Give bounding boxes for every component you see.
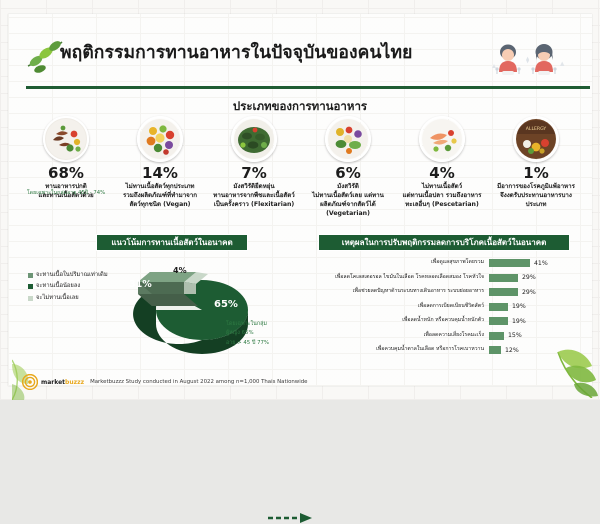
- food-type-label-line3: ผลิตภัณฑ์จากสัตว์ได้ (Vegetarian): [302, 201, 394, 219]
- brand-logo-main: market: [41, 379, 65, 386]
- pie-note: โดยเฉพาะในกลุ่ม ผู้หญิง 65% อายุ > 45 ปี…: [226, 320, 310, 348]
- pie-note-line2: ผู้หญิง 65%: [226, 329, 310, 338]
- food-type-note: โดยเฉพาะในกลุ่มอายุ 45ปี - 74%: [14, 190, 118, 197]
- page-title: พฤติกรรมการทานอาหารในปัจจุบันของคนไทย: [60, 44, 460, 63]
- bar-label: เพื่อลดความเสี่ยงโรคมะเร็ง: [314, 333, 489, 339]
- bar-track: 41%: [489, 259, 559, 267]
- bar-value: 29%: [522, 274, 536, 281]
- legend-label: จะไม่ทานเนื้อเลย: [36, 295, 79, 302]
- food-type-percent: 1%: [490, 166, 582, 182]
- bar-row: เพื่อลดโคเลสเตอรอล ไขมันในเลือด โรคหลอดเ…: [314, 271, 596, 286]
- pie-note-line3: อายุ > 45 ปี 77%: [226, 339, 310, 348]
- legend-swatch-icon: [28, 284, 33, 289]
- legend-label: จะทานเนื้อน้อยลง: [36, 283, 80, 290]
- food-type-percent: 7%: [208, 166, 300, 182]
- green-salad-plate-icon: [231, 116, 277, 162]
- bar-label: เพื่อลดการเบียดเบียนชีวิตสัตว์: [314, 304, 489, 310]
- food-type-percent: 68%: [20, 166, 112, 182]
- food-type-label-line3: สัตว์ทุกชนิด (Vegan): [114, 201, 206, 210]
- steak-salad-plate-icon: [43, 116, 89, 162]
- title-divider: [26, 86, 590, 89]
- food-type-item-2: 7% มังสวิรัติยืดหยุ่น ทานอาหารจากพืชและเ…: [208, 116, 300, 224]
- legend-label: จะทานเนื้อในปริมาณเท่าเดิม: [36, 272, 108, 279]
- food-type-percent: 14%: [114, 166, 206, 182]
- legend-swatch-icon: [28, 296, 33, 301]
- food-type-label-line2: จึงงดรับประทานอาหารบาง: [490, 192, 582, 201]
- bar-label: เพื่อลดน้ำหนัก หรือควบคุมน้ำหนักตัว: [314, 318, 489, 324]
- footer-note: Marketbuzzz Study conducted in August 20…: [90, 379, 307, 385]
- food-type-label-line1: ไม่ทานเนื้อสัตว์: [396, 183, 488, 192]
- food-type-label-line2: ทานอาหารจากพืชและเนื้อสัตว์: [208, 192, 300, 201]
- bar-fill: [489, 259, 530, 267]
- food-type-label-line2: รวมถึงผลิตภัณฑ์ที่ทำมาจาก: [114, 192, 206, 201]
- bar-label: เพื่อช่วยลดปัญหาด้านระบบทางเดินอาหาร ระบ…: [314, 289, 489, 295]
- food-type-label-line2: แต่ทานเนื้อปลา รวมถึงอาหาร: [396, 192, 488, 201]
- food-type-label-line2: ไม่ทานเนื้อสัตว์เลย แต่ทาน: [302, 192, 394, 201]
- food-type-label-line3: ทะเลอื่นๆ (Pescetarian): [396, 201, 488, 210]
- food-type-item-0: 68% ทานอาหารปกติ และทานเนื้อสัตว์ด้วย โด…: [20, 116, 112, 224]
- bar-row: เพื่อดูแลสุขภาพโดยรวม 41%: [314, 256, 596, 271]
- food-type-item-4: 4% ไม่ทานเนื้อสัตว์ แต่ทานเนื้อปลา รวมถึ…: [396, 116, 488, 224]
- section-heading-reasons: เหตุผลในการปรับพฤติกรรมลดการบริโภคเนื้อส…: [318, 234, 570, 251]
- bar-label: เพื่อควบคุมน้ำตาลในเลือด หรือการโรคเบาหว…: [314, 347, 489, 353]
- marketbuzzz-logo-icon: [22, 374, 38, 390]
- vegetarian-plate-icon: [325, 116, 371, 162]
- bar-fill: [489, 332, 504, 340]
- brand-logo-accent: buzzz: [65, 379, 84, 386]
- bar-track: 29%: [489, 274, 559, 282]
- allergy-food-icon: ALLERGY: [513, 116, 559, 162]
- food-type-percent: 6%: [302, 166, 394, 182]
- bar-track: 29%: [489, 288, 559, 296]
- pie-slice-label-4: 4%: [173, 266, 187, 275]
- food-type-label-line1: ไม่ทานเนื้อสัตว์ทุกประเภท: [114, 183, 206, 192]
- food-type-item-3: 6% มังสวิรัติ ไม่ทานเนื้อสัตว์เลย แต่ทาน…: [302, 116, 394, 224]
- people-dining-icon: [478, 38, 586, 84]
- salmon-plate-icon: [419, 116, 465, 162]
- food-type-label-line1: มังสวิรัติยืดหยุ่น: [208, 183, 300, 192]
- bar-label: เพื่อลดโคเลสเตอรอล ไขมันในเลือด โรคหลอดเ…: [314, 275, 489, 281]
- food-type-label-line1: มังสวิรัติ: [302, 183, 394, 192]
- food-type-item-1: 14% ไม่ทานเนื้อสัตว์ทุกประเภท รวมถึงผลิต…: [114, 116, 206, 224]
- bar-label: เพื่อดูแลสุขภาพโดยรวม: [314, 260, 489, 266]
- pie-chart-graphic: [110, 254, 270, 366]
- bar-fill: [489, 346, 501, 354]
- food-type-item-5: ALLERGY 1% มีอาการของโรคภูมิแพ้อาหาร จึง…: [490, 116, 582, 224]
- footer: marketbuzzz Marketbuzzz Study conducted …: [22, 374, 307, 390]
- food-type-label-line3: ประเภท: [490, 201, 582, 210]
- bar-fill: [489, 274, 518, 282]
- dashed-arrow-icon: [268, 512, 314, 524]
- infographic-card: พฤติกรรมการทานอาหารในปัจจุบันของคนไทย ปร…: [8, 14, 592, 386]
- bar-value: 29%: [522, 289, 536, 296]
- pie-slice-label-65: 65%: [214, 299, 238, 310]
- food-type-percent: 4%: [396, 166, 488, 182]
- food-type-label-line3: เป็นครั้งคราว (Flexitarian): [208, 201, 300, 210]
- legend-swatch-icon: [28, 273, 33, 278]
- bar-value: 41%: [534, 260, 548, 267]
- bar-row: เพื่อช่วยลดปัญหาด้านระบบทางเดินอาหาร ระบ…: [314, 285, 596, 300]
- infographic-root: พฤติกรรมการทานอาหารในปัจจุบันของคนไทย ปร…: [0, 0, 600, 400]
- vegan-bowl-icon: [137, 116, 183, 162]
- section-heading-meat-trend: แนวโน้มการทานเนื้อสัตว์ในอนาคต: [96, 234, 248, 251]
- svg-text:ALLERGY: ALLERGY: [526, 126, 547, 132]
- brand-logo-text: marketbuzzz: [41, 379, 84, 386]
- pie-note-line1: โดยเฉพาะในกลุ่ม: [226, 320, 310, 329]
- food-type-list: 68% ทานอาหารปกติ และทานเนื้อสัตว์ด้วย โด…: [20, 116, 582, 224]
- leaf-decoration-icon: [506, 306, 598, 398]
- section-heading-food-types: ประเภทของการทานอาหาร: [8, 98, 592, 116]
- pie-slice-label-31: 31%: [129, 279, 152, 290]
- food-type-label-line1: มีอาการของโรคภูมิแพ้อาหาร: [490, 183, 582, 192]
- bar-fill: [489, 288, 518, 296]
